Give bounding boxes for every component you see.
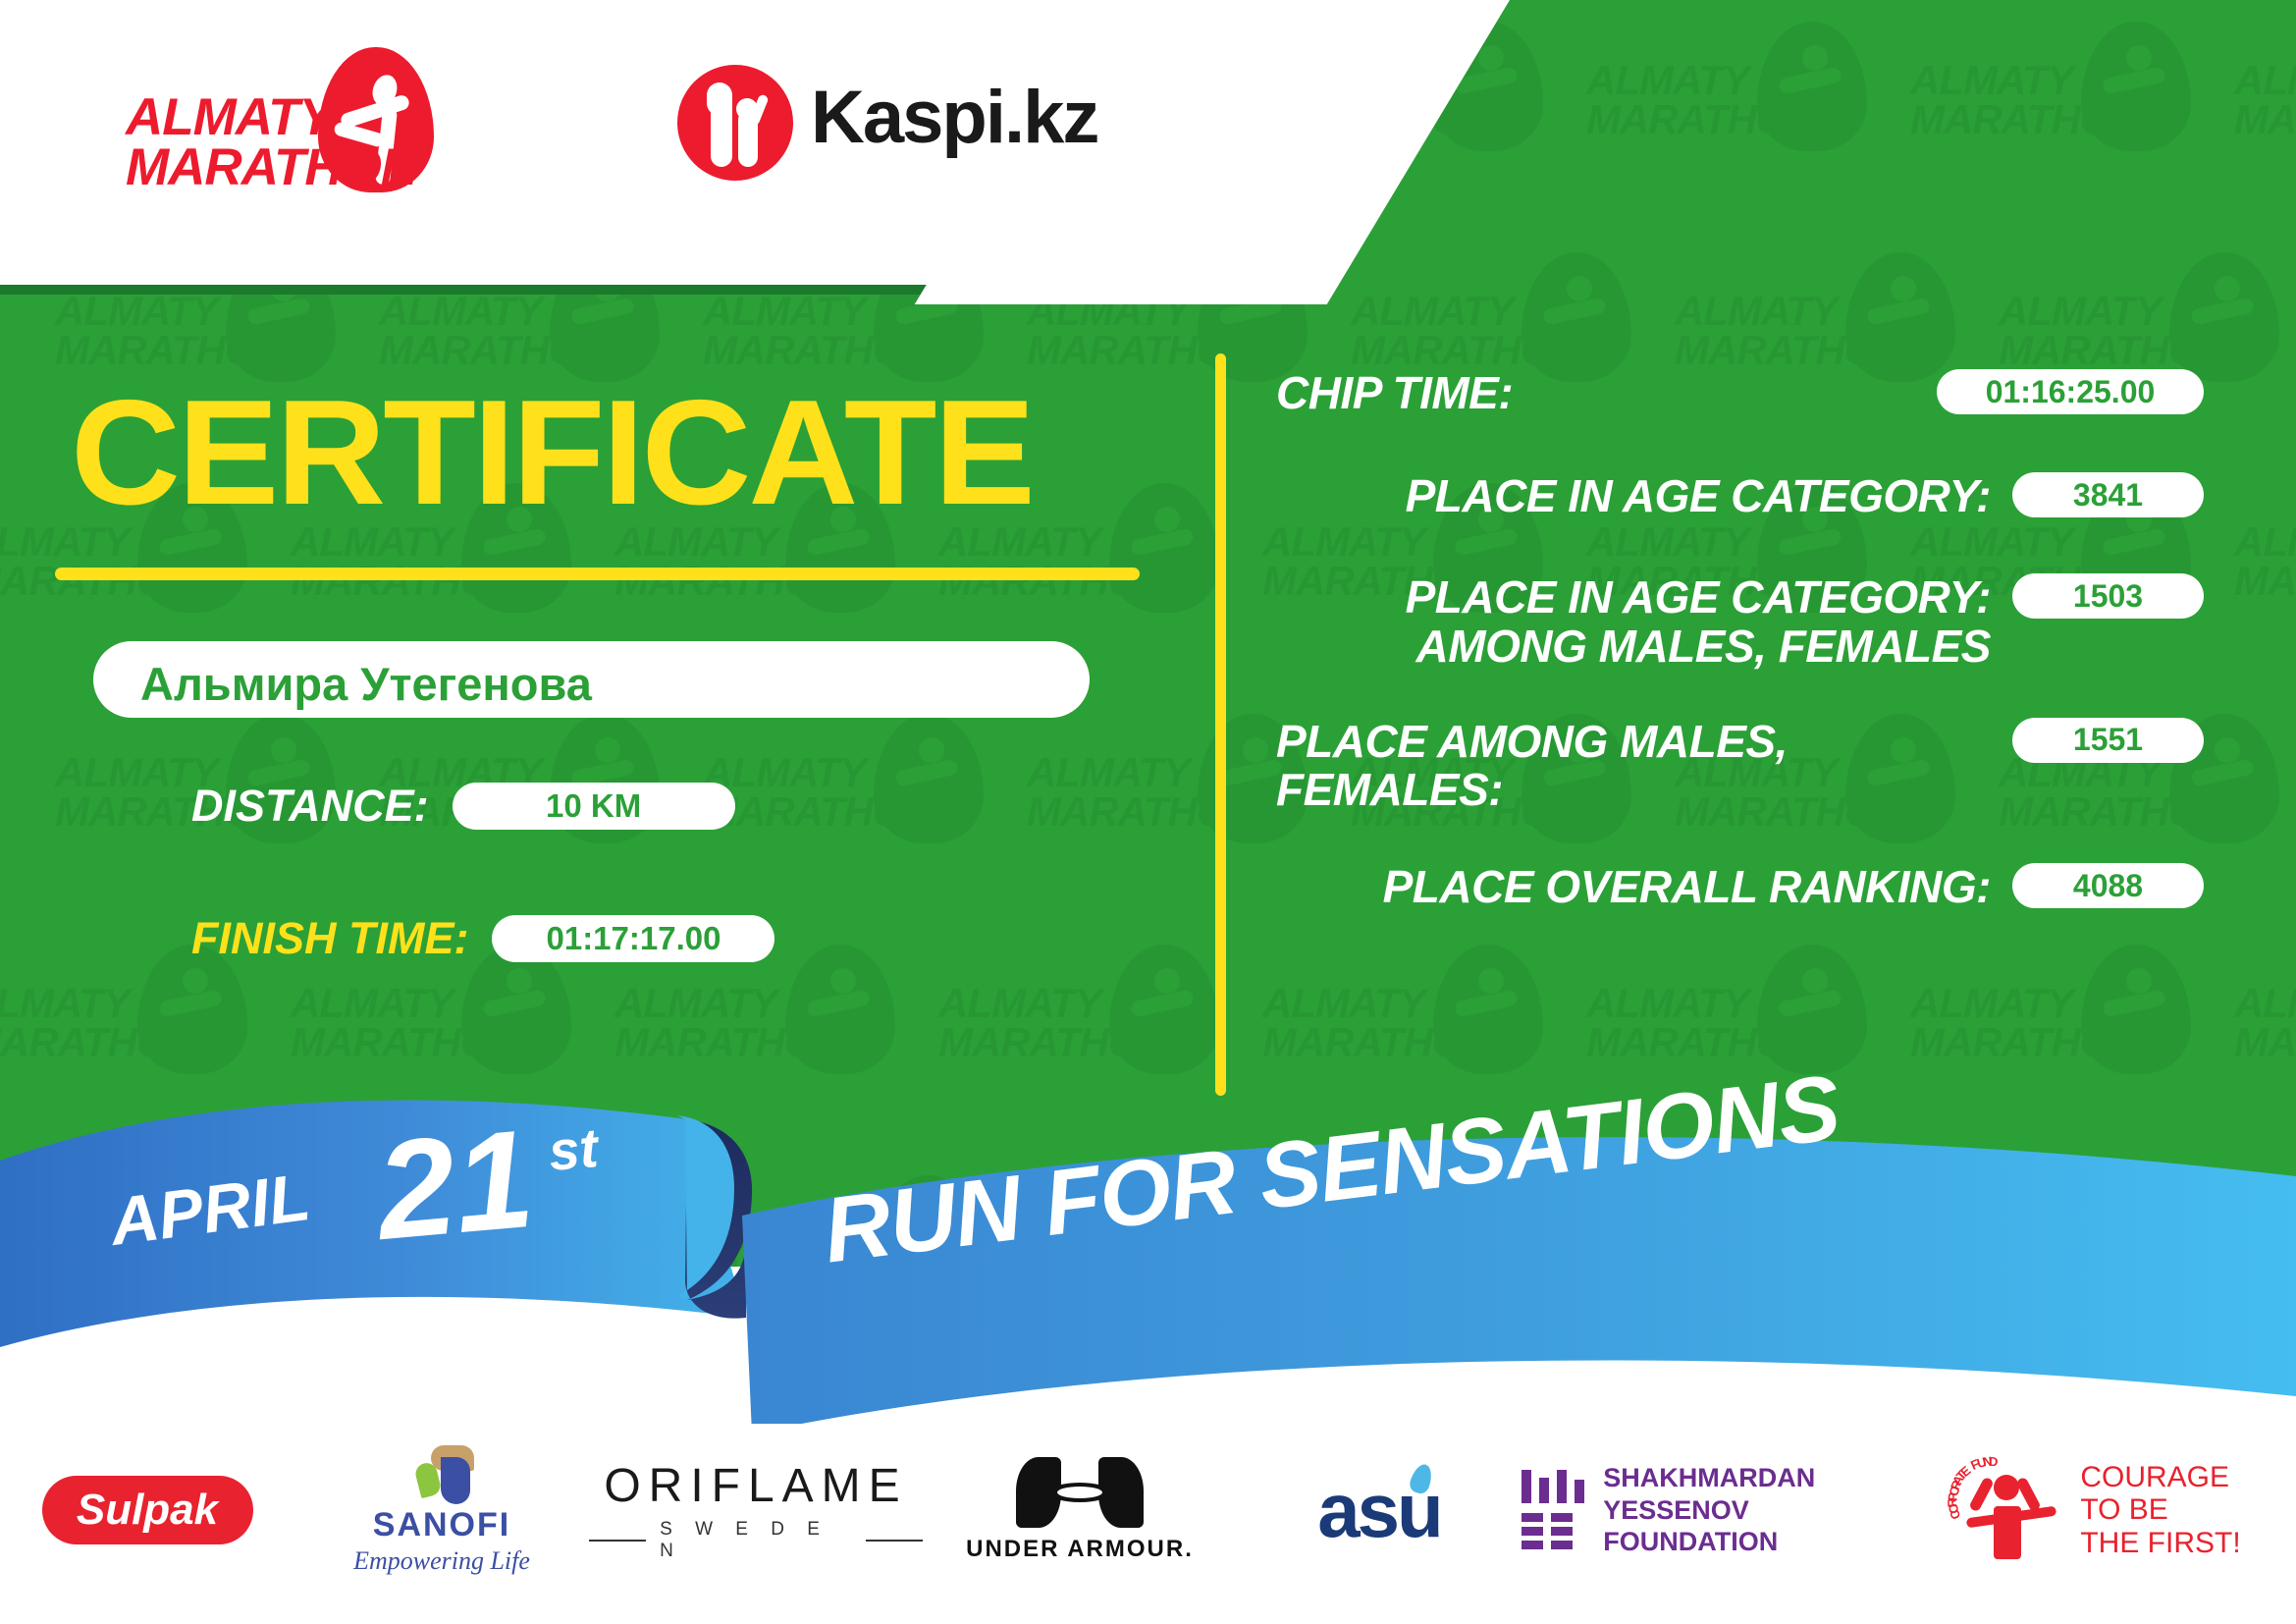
under-armour-icon <box>1016 1457 1144 1528</box>
watermark-text: ALMATYMARATHON <box>1910 984 2156 1063</box>
bar-segment <box>1522 1527 1543 1536</box>
place-age-category-among-label: PLACE IN AGE CATEGORY: AMONG MALES, FEMA… <box>1276 569 2012 670</box>
place-age-category-label: PLACE IN AGE CATEGORY: <box>1276 468 2012 520</box>
watermark-tile: ALMATYMARATHON <box>2228 432 2296 663</box>
sponsor-yessenov-foundation: SHAKHMARDAN YESSENOV FOUNDATION <box>1522 1441 1934 1579</box>
watermark-text: ALMATYMARATHON <box>1586 61 1832 140</box>
watermark-runner-icon <box>1845 252 1955 382</box>
watermark-runner-icon <box>2081 22 2191 151</box>
chip-time-label: CHIP TIME: <box>1276 365 1937 417</box>
watermark-runner-icon <box>1757 945 1867 1074</box>
finish-time-label: FINISH TIME: <box>191 913 468 964</box>
sponsor-sulpak: Sulpak <box>0 1441 294 1579</box>
result-row-place-among-males-females: PLACE AMONG MALES, FEMALES: 1551 <box>1276 714 2204 814</box>
watermark-runner-icon <box>1109 483 1219 613</box>
participant-name-field: Альмира Утегенова <box>93 641 1090 718</box>
watermark-text: ALMATYMARATHON <box>1675 292 1920 371</box>
oriflame-label: ORIFLAME <box>604 1459 907 1513</box>
logo-line-1: ALMATY <box>126 92 417 142</box>
under-armour-label: UNDER ARMOUR. <box>966 1536 1194 1563</box>
chip-time-value: 01:16:25.00 <box>1986 374 2156 410</box>
bar-segment <box>1575 1480 1584 1503</box>
cf-line-2: TO BE <box>2080 1493 2240 1527</box>
result-row-place-overall-ranking: PLACE OVERALL RANKING: 4088 <box>1276 859 2204 911</box>
kaspi-logo: Kaspi.kz <box>677 61 1090 189</box>
place-age-category-value-pill: 3841 <box>2012 472 2204 517</box>
oriflame-subline: S W E D E N <box>589 1519 923 1562</box>
watermark-runner-icon <box>2081 945 2191 1074</box>
title-underline <box>55 568 1140 580</box>
distance-value: 10 KM <box>546 787 641 825</box>
bar-segment <box>1557 1470 1567 1503</box>
watermark-text: ALMATYMARATHON <box>614 984 860 1063</box>
watermark-text: ALMATYMARATHON <box>938 984 1184 1063</box>
watermark-text: ALMATYMARATHON <box>291 984 536 1063</box>
place-age-category-among-value: 1503 <box>2073 578 2143 615</box>
logo-line-2: MARATHON <box>126 142 417 192</box>
almaty-marathon-logo: ALMATY MARATHON <box>126 47 450 204</box>
sanofi-tagline: Empowering Life <box>353 1546 530 1576</box>
kaspi-people-icon <box>677 65 793 181</box>
cf-line-3: THE FIRST! <box>2080 1527 2240 1560</box>
sponsor-bar: Sulpak SANOFI Empowering Life ORIFLAME S… <box>0 1422 2296 1598</box>
watermark-runner-icon <box>874 714 984 843</box>
corporate-fund-icon: CORPORATE FUND <box>1960 1457 2064 1563</box>
finish-time-value: 01:17:17.00 <box>546 920 721 957</box>
bar-segment <box>1522 1541 1543 1549</box>
bar-segment <box>1522 1470 1531 1503</box>
finish-time-value-pill: 01:17:17.00 <box>492 915 774 962</box>
chip-time-value-pill: 01:16:25.00 <box>1937 369 2204 414</box>
result-row-place-age-category-among: PLACE IN AGE CATEGORY: AMONG MALES, FEMA… <box>1276 569 2204 670</box>
watermark-text: ALMATYMARATHON <box>0 984 212 1063</box>
place-overall-ranking-value-pill: 4088 <box>2012 863 2204 908</box>
watermark-text: ALMATYMARATHON <box>2234 984 2296 1063</box>
sponsor-under-armour: UNDER ARMOUR. <box>923 1441 1237 1579</box>
yessenov-line-1: SHAKHMARDAN YESSENOV <box>1603 1462 1934 1526</box>
watermark-tile: ALMATYMARATHON <box>1580 0 1904 201</box>
watermark-runner-icon <box>1522 252 1631 382</box>
watermark-runner-icon <box>1433 945 1543 1074</box>
bar-segment <box>1522 1513 1543 1522</box>
sulpak-logo: Sulpak <box>42 1476 253 1544</box>
ribbon-day-suffix: st <box>546 1115 600 1183</box>
place-age-category-value: 3841 <box>2073 477 2143 514</box>
almaty-marathon-wordmark: ALMATY MARATHON <box>126 92 417 193</box>
result-row-place-age-category: PLACE IN AGE CATEGORY: 3841 <box>1276 468 2204 520</box>
watermark-text: ALMATYMARATHON <box>2234 61 2296 140</box>
place-among-males-females-label: PLACE AMONG MALES, FEMALES: <box>1276 714 2012 814</box>
sponsor-corporate-fund: CORPORATE FUND COURAGE TO BE THE FIRST! <box>1934 1441 2268 1579</box>
watermark-text: ALMATYMARATHON <box>1027 753 1272 833</box>
asu-logo: asu <box>1317 1466 1440 1555</box>
place-among-males-females-value-pill: 1551 <box>2012 718 2204 763</box>
place-overall-ranking-value: 4088 <box>2073 868 2143 904</box>
sponsor-sanofi: SANOFI Empowering Life <box>294 1441 589 1579</box>
distance-value-pill: 10 KM <box>453 783 735 830</box>
ribbon-day: 21 <box>371 1099 540 1272</box>
yessenov-line-2: FOUNDATION <box>1603 1526 1934 1557</box>
finish-time-row: FINISH TIME: 01:17:17.00 <box>191 913 774 964</box>
watermark-text: ALMATYMARATHON <box>1910 61 2156 140</box>
watermark-text: ALMATYMARATHON <box>1999 292 2244 371</box>
bar-segment <box>1551 1541 1573 1549</box>
arc-letter: D <box>1988 1454 1998 1469</box>
corporate-fund-label: COURAGE TO BE THE FIRST! <box>2080 1461 2240 1560</box>
distance-label: DISTANCE: <box>191 781 429 832</box>
place-overall-ranking-label: PLACE OVERALL RANKING: <box>1276 859 2012 911</box>
bar-segment <box>1551 1527 1573 1536</box>
oriflame-sweden-label: S W E D E N <box>660 1519 852 1562</box>
sanofi-icon <box>405 1445 478 1502</box>
watermark-text: ALMATYMARATHON <box>55 292 300 371</box>
watermark-text: ALMATYMARATHON <box>703 753 948 833</box>
sulpak-label: Sulpak <box>77 1486 218 1535</box>
cf-line-1: COURAGE <box>2080 1461 2240 1494</box>
watermark-text: ALMATYMARATHON <box>1586 984 1832 1063</box>
sponsor-asu: asu <box>1237 1441 1522 1579</box>
event-ribbon: APRIL 21 st RUN FOR SENSATIONS <box>0 1090 2296 1424</box>
watermark-text: ALMATYMARATHON <box>1262 984 1508 1063</box>
results-panel: CHIP TIME: 01:16:25.00 PLACE IN AGE CATE… <box>1276 365 2204 912</box>
sponsor-oriflame: ORIFLAME S W E D E N <box>589 1441 923 1579</box>
certificate-page: ALMATYMARATHONALMATYMARATHONALMATYMARATH… <box>0 0 2296 1624</box>
vertical-divider <box>1215 353 1226 1096</box>
watermark-text: ALMATYMARATHON <box>703 292 948 371</box>
yessenov-bars-icon <box>1522 1470 1585 1550</box>
kaspi-wordmark: Kaspi.kz <box>811 75 1097 160</box>
watermark-runner-icon <box>1109 945 1219 1074</box>
watermark-runner-icon <box>785 945 895 1074</box>
watermark-text: ALMATYMARATHON <box>2234 522 2296 602</box>
watermark-runner-icon <box>2169 252 2279 382</box>
watermark-tile: ALMATYMARATHON <box>1904 0 2228 201</box>
yessenov-label: SHAKHMARDAN YESSENOV FOUNDATION <box>1603 1462 1934 1557</box>
bar-segment <box>1551 1513 1573 1522</box>
place-age-category-among-value-pill: 1503 <box>2012 573 2204 619</box>
watermark-text: ALMATYMARATHON <box>379 292 624 371</box>
watermark-tile: ALMATYMARATHON <box>2228 0 2296 201</box>
distance-row: DISTANCE: 10 KM <box>191 781 735 832</box>
page-title: CERTIFICATE <box>71 378 1033 527</box>
participant-name: Альмира Утегенова <box>140 657 592 711</box>
result-row-chip-time: CHIP TIME: 01:16:25.00 <box>1276 365 2204 417</box>
sanofi-label: SANOFI <box>373 1506 510 1544</box>
watermark-text: ALMATYMARATHON <box>1351 292 1596 371</box>
place-among-males-females-value: 1551 <box>2073 722 2143 758</box>
bar-segment <box>1539 1478 1549 1503</box>
watermark-runner-icon <box>1757 22 1867 151</box>
